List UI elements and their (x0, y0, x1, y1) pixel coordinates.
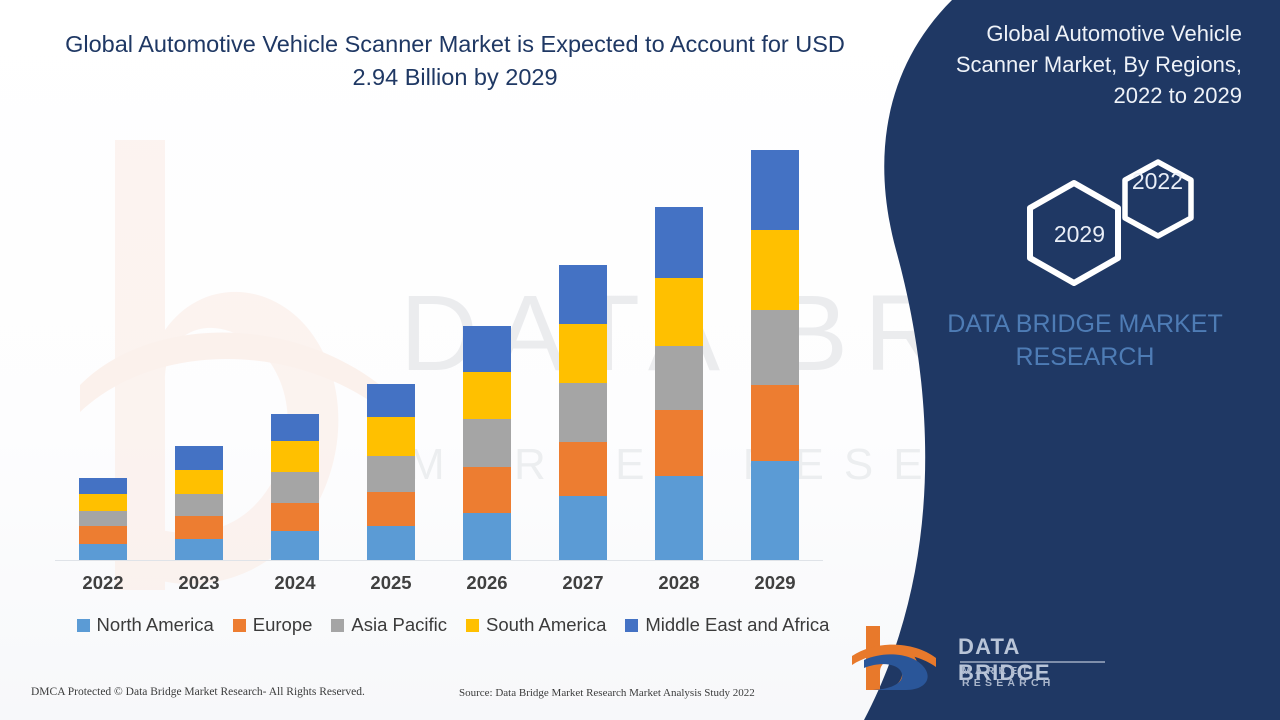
bar-slot-2022 (55, 120, 151, 560)
bar-segment[interactable] (655, 207, 703, 279)
hexagon-label-2029: 2029 (1054, 221, 1105, 248)
bar-segment[interactable] (463, 467, 511, 513)
bar-segment[interactable] (655, 346, 703, 411)
bar-segment[interactable] (751, 230, 799, 310)
bar-segment[interactable] (367, 417, 415, 456)
legend-label: Middle East and Africa (645, 614, 829, 636)
bar-segment[interactable] (79, 494, 127, 511)
legend-swatch-icon (233, 619, 246, 632)
legend-label: Asia Pacific (351, 614, 447, 636)
bar-segment[interactable] (367, 384, 415, 417)
bar-segment[interactable] (367, 526, 415, 560)
brand-panel: Global Automotive Vehicle Scanner Market… (820, 0, 1280, 720)
legend-item[interactable]: South America (466, 614, 606, 636)
bar-segment[interactable] (463, 419, 511, 466)
logo-secondary-text: MARKET RESEARCH (962, 665, 1115, 689)
x-axis-label-2023: 2023 (151, 572, 247, 594)
bar-slot-2025 (343, 120, 439, 560)
stacked-bar[interactable] (751, 150, 799, 560)
legend-swatch-icon (77, 619, 90, 632)
bar-segment[interactable] (751, 385, 799, 461)
bar-segment[interactable] (751, 150, 799, 230)
brand-name-text: DATA BRIDGE MARKET RESEARCH (925, 308, 1245, 373)
bar-segment[interactable] (751, 461, 799, 560)
legend-item[interactable]: Europe (233, 614, 313, 636)
bar-slot-2029 (727, 120, 823, 560)
bar-segment[interactable] (655, 278, 703, 345)
infographic-canvas: DATA BRIDGE MARKET RESEARCH Global Autom… (0, 0, 1280, 720)
bar-segment[interactable] (175, 494, 223, 516)
legend-swatch-icon (466, 619, 479, 632)
bar-segment[interactable] (271, 414, 319, 442)
bar-slot-2026 (439, 120, 535, 560)
hexagon-label-2022: 2022 (1132, 168, 1183, 195)
plot-area (55, 120, 823, 561)
data-bridge-logo: DATA BRIDGE MARKET RESEARCH (850, 620, 1115, 692)
stacked-bar[interactable] (175, 446, 223, 560)
bar-segment[interactable] (751, 310, 799, 385)
bar-segment[interactable] (271, 441, 319, 472)
stacked-bar[interactable] (367, 384, 415, 560)
bar-segment[interactable] (175, 446, 223, 470)
bar-segment[interactable] (655, 410, 703, 476)
legend-item[interactable]: North America (77, 614, 214, 636)
bar-segment[interactable] (271, 472, 319, 503)
x-axis-label-2028: 2028 (631, 572, 727, 594)
legend-label: Europe (253, 614, 313, 636)
bar-segment[interactable] (79, 526, 127, 544)
legend-label: South America (486, 614, 606, 636)
bar-segment[interactable] (655, 476, 703, 560)
x-axis-label-2024: 2024 (247, 572, 343, 594)
stacked-bar[interactable] (655, 207, 703, 560)
bar-slot-2028 (631, 120, 727, 560)
bar-slot-2023 (151, 120, 247, 560)
legend-swatch-icon (625, 619, 638, 632)
page-title: Global Automotive Vehicle Scanner Market… (60, 28, 850, 95)
bar-segment[interactable] (367, 492, 415, 526)
bar-segment[interactable] (559, 265, 607, 323)
bar-segment[interactable] (175, 516, 223, 539)
stacked-bar[interactable] (271, 414, 319, 560)
bar-segment[interactable] (559, 496, 607, 560)
bar-segment[interactable] (271, 503, 319, 532)
bar-segment[interactable] (463, 513, 511, 560)
bar-segment[interactable] (271, 531, 319, 560)
x-axis-baseline (55, 560, 823, 562)
bar-slot-2024 (247, 120, 343, 560)
bar-segment[interactable] (79, 478, 127, 495)
bar-segment[interactable] (175, 470, 223, 494)
bar-segment[interactable] (367, 456, 415, 492)
x-axis-labels: 20222023202420252026202720282029 (55, 572, 823, 594)
legend-item[interactable]: Asia Pacific (331, 614, 447, 636)
brand-panel-title: Global Automotive Vehicle Scanner Market… (912, 18, 1242, 112)
bar-segment[interactable] (463, 372, 511, 419)
bar-segment[interactable] (559, 442, 607, 496)
bar-segment[interactable] (559, 324, 607, 383)
bar-segment[interactable] (79, 511, 127, 526)
bar-group (55, 120, 823, 560)
x-axis-label-2026: 2026 (439, 572, 535, 594)
legend-label: North America (97, 614, 214, 636)
x-axis-label-2029: 2029 (727, 572, 823, 594)
bar-segment[interactable] (175, 539, 223, 560)
stacked-bar[interactable] (559, 265, 607, 560)
legend-item[interactable]: Middle East and Africa (625, 614, 829, 636)
stacked-bar[interactable] (79, 478, 127, 560)
x-axis-label-2027: 2027 (535, 572, 631, 594)
source-note: Source: Data Bridge Market Research Mark… (459, 687, 755, 699)
x-axis-label-2025: 2025 (343, 572, 439, 594)
legend-swatch-icon (331, 619, 344, 632)
logo-divider (960, 661, 1105, 663)
bar-segment[interactable] (559, 383, 607, 442)
hexagon-pair (1002, 140, 1202, 290)
chart-legend: North AmericaEuropeAsia PacificSouth Ame… (58, 614, 848, 636)
bar-slot-2027 (535, 120, 631, 560)
bar-segment[interactable] (79, 544, 127, 561)
bar-segment[interactable] (463, 326, 511, 372)
logo-mark-icon (850, 620, 950, 692)
stacked-bar[interactable] (463, 326, 511, 560)
copyright-notice: DMCA Protected © Data Bridge Market Rese… (31, 686, 365, 698)
chart-panel: DATA BRIDGE MARKET RESEARCH Global Autom… (0, 0, 960, 720)
x-axis-label-2022: 2022 (55, 572, 151, 594)
